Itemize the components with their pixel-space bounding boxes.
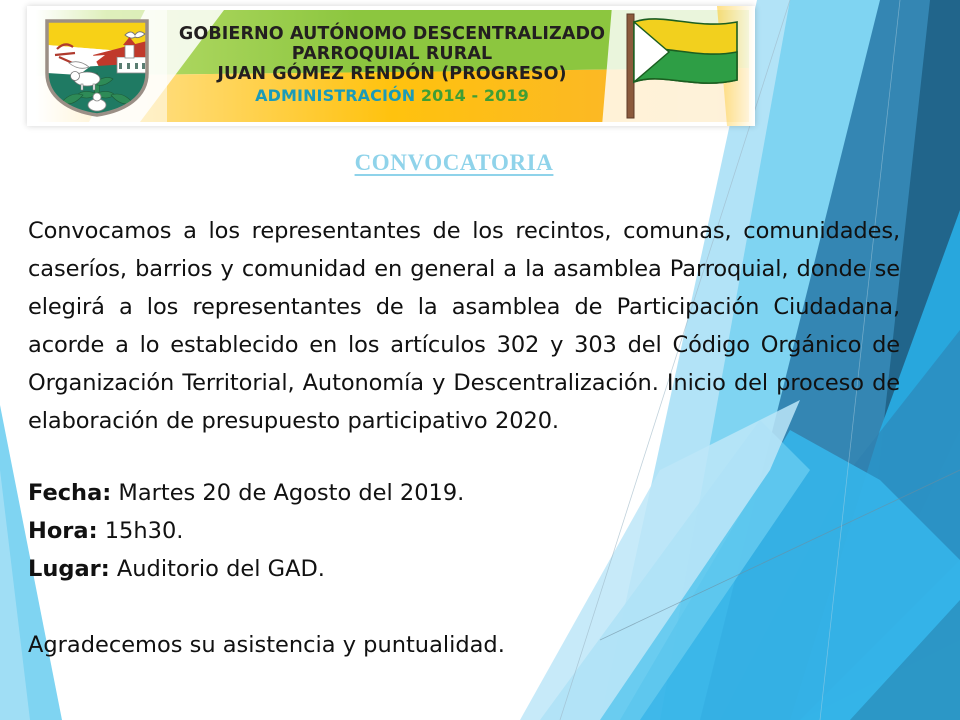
detail-row-fecha: Fecha: Martes 20 de Agosto del 2019. (28, 474, 908, 512)
detail-row-lugar: Lugar: Auditorio del GAD. (28, 550, 908, 588)
banner-line-1: GOBIERNO AUTÓNOMO DESCENTRALIZADO (179, 24, 605, 44)
slide-canvas: GOBIERNO AUTÓNOMO DESCENTRALIZADO PARROQ… (0, 0, 960, 720)
detail-label-lugar: Lugar: (28, 556, 110, 582)
page-title: CONVOCATORIA (28, 150, 880, 176)
body-paragraph: Convocamos a los representantes de los r… (28, 212, 900, 440)
detail-value-lugar: Auditorio del GAD. (117, 556, 325, 582)
decor-shape-left-wedge-pale (0, 470, 30, 720)
closing-line: Agradecemos su asistencia y puntualidad. (28, 626, 908, 664)
detail-row-hora: Hora: 15h30. (28, 512, 908, 550)
detail-label-hora: Hora: (28, 518, 98, 544)
parish-flag-icon (617, 10, 749, 122)
banner-line-2: PARROQUIAL RURAL (292, 44, 492, 64)
administration-label: ADMINISTRACIÓN (255, 86, 415, 105)
header-banner: GOBIERNO AUTÓNOMO DESCENTRALIZADO PARROQ… (27, 6, 755, 126)
coat-of-arms-icon (33, 11, 161, 121)
detail-value-fecha: Martes 20 de Agosto del 2019. (118, 480, 464, 506)
administration-years: 2014 - 2019 (421, 86, 529, 105)
detail-value-hora: 15h30. (105, 518, 184, 544)
banner-line-3: JUAN GÓMEZ RENDÓN (PROGRESO) (217, 64, 566, 84)
detail-label-fecha: Fecha: (28, 480, 111, 506)
slide-content: CONVOCATORIA Convocamos a los representa… (28, 150, 908, 664)
banner-administration-line: ADMINISTRACIÓN 2014 - 2019 (255, 84, 529, 108)
banner-text-block: GOBIERNO AUTÓNOMO DESCENTRALIZADO PARROQ… (167, 12, 617, 120)
event-details: Fecha: Martes 20 de Agosto del 2019. Hor… (28, 474, 908, 588)
